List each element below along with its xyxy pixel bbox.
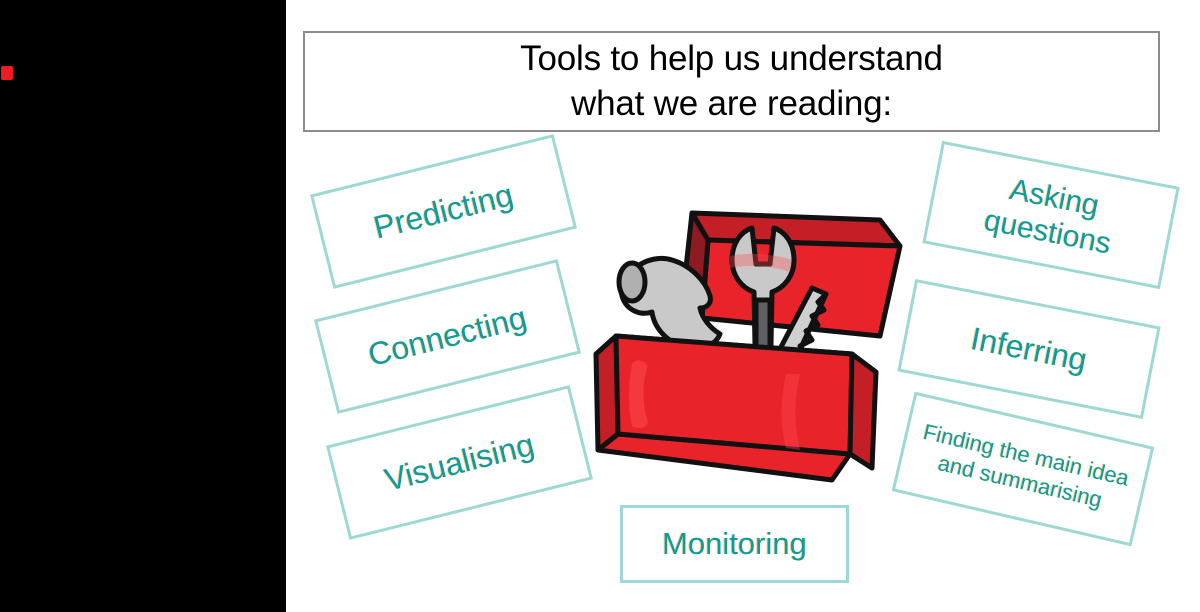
tool-card-asking-questions[interactable]: Asking questions — [922, 141, 1179, 289]
poster-canvas: Tools to help us understand what we are … — [0, 0, 1200, 612]
toolbox-right-side — [850, 354, 876, 468]
page-title: Tools to help us understand what we are … — [520, 37, 943, 127]
tool-card-label: Inferring — [968, 320, 1090, 379]
title-box: Tools to help us understand what we are … — [303, 31, 1160, 132]
tool-card-label: Asking questions — [981, 168, 1121, 262]
tool-card-label: Predicting — [370, 176, 517, 246]
tool-card-monitoring[interactable]: Monitoring — [620, 505, 849, 583]
hammer-claw-end — [619, 263, 645, 301]
left-black-panel — [0, 0, 286, 612]
toolbox-front — [616, 336, 852, 454]
tool-card-label: Connecting — [364, 299, 530, 374]
tool-card-visualising[interactable]: Visualising — [326, 385, 593, 540]
tool-card-label: Visualising — [381, 426, 538, 499]
tool-card-label: Monitoring — [662, 526, 807, 562]
tool-card-label: Finding the main idea and summarising — [914, 419, 1131, 519]
toolbox-illustration — [580, 168, 920, 498]
tool-card-finding-main-idea[interactable]: Finding the main idea and summarising — [892, 392, 1155, 547]
red-bullet-dot-icon — [1, 66, 13, 80]
toolbox-svg — [580, 168, 920, 498]
